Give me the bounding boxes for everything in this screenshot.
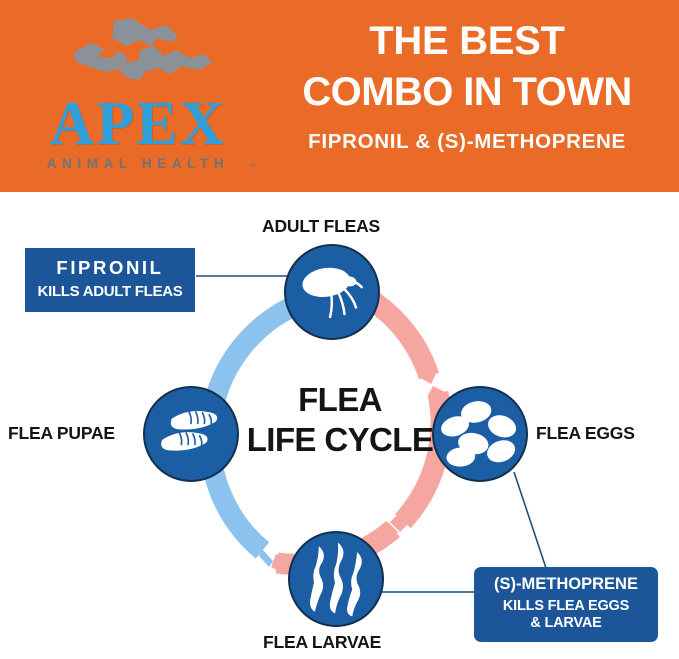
mountain-peak-icon [54, 16, 219, 94]
flea-pupae-icon [145, 388, 237, 480]
callout-methoprene-subtitle: KILLS FLEA EGGS & LARVAE [482, 598, 650, 632]
callout-methoprene-subtitle-line-2: & LARVAE [482, 615, 650, 632]
headline-line-1: THE BEST [262, 16, 672, 66]
brand-logo: APEX ANIMAL HEALTH ™ [14, 14, 262, 178]
callout-methoprene[interactable]: (S)-METHOPRENE KILLS FLEA EGGS & LARVAE [474, 567, 658, 642]
callout-fipronil[interactable]: FIPRONIL KILLS ADULT FLEAS [25, 248, 195, 312]
node-flea-larvae[interactable] [288, 531, 384, 627]
connector-methoprene-eggs [514, 472, 546, 568]
flea-life-cycle-diagram: ADULT FLEAS FLEA EGGS FLEA LARVAE [0, 192, 679, 659]
node-label-flea-eggs: FLEA EGGS [536, 423, 635, 444]
brand-tagline: ANIMAL HEALTH [14, 156, 262, 171]
flea-larvae-icon [290, 533, 382, 625]
node-label-adult-fleas: ADULT FLEAS [262, 216, 380, 237]
callout-fipronil-title: FIPRONIL [35, 257, 185, 279]
callout-fipronil-subtitle: KILLS ADULT FLEAS [35, 283, 185, 301]
headline-subtitle: FIPRONIL & (S)-METHOPRENE [262, 130, 672, 154]
node-label-flea-larvae: FLEA LARVAE [263, 632, 381, 653]
center-title-line-1: FLEA [232, 380, 448, 420]
node-label-flea-pupae: FLEA PUPAE [8, 423, 115, 444]
node-adult-fleas[interactable] [284, 244, 380, 340]
trademark-symbol: ™ [249, 164, 256, 171]
center-title-line-2: LIFE CYCLE [232, 420, 448, 460]
adult-flea-icon [286, 246, 378, 338]
callout-methoprene-subtitle-line-1: KILLS FLEA EGGS [482, 598, 650, 615]
header-banner: APEX ANIMAL HEALTH ™ THE BEST COMBO IN T… [0, 0, 679, 192]
header-headline: THE BEST COMBO IN TOWN FIPRONIL & (S)-ME… [262, 16, 672, 154]
brand-name: APEX [14, 92, 262, 156]
diagram-center-title: FLEA LIFE CYCLE [232, 380, 448, 460]
node-flea-pupae[interactable] [143, 386, 239, 482]
headline-line-2: COMBO IN TOWN [262, 66, 672, 118]
callout-methoprene-title: (S)-METHOPRENE [482, 575, 650, 594]
